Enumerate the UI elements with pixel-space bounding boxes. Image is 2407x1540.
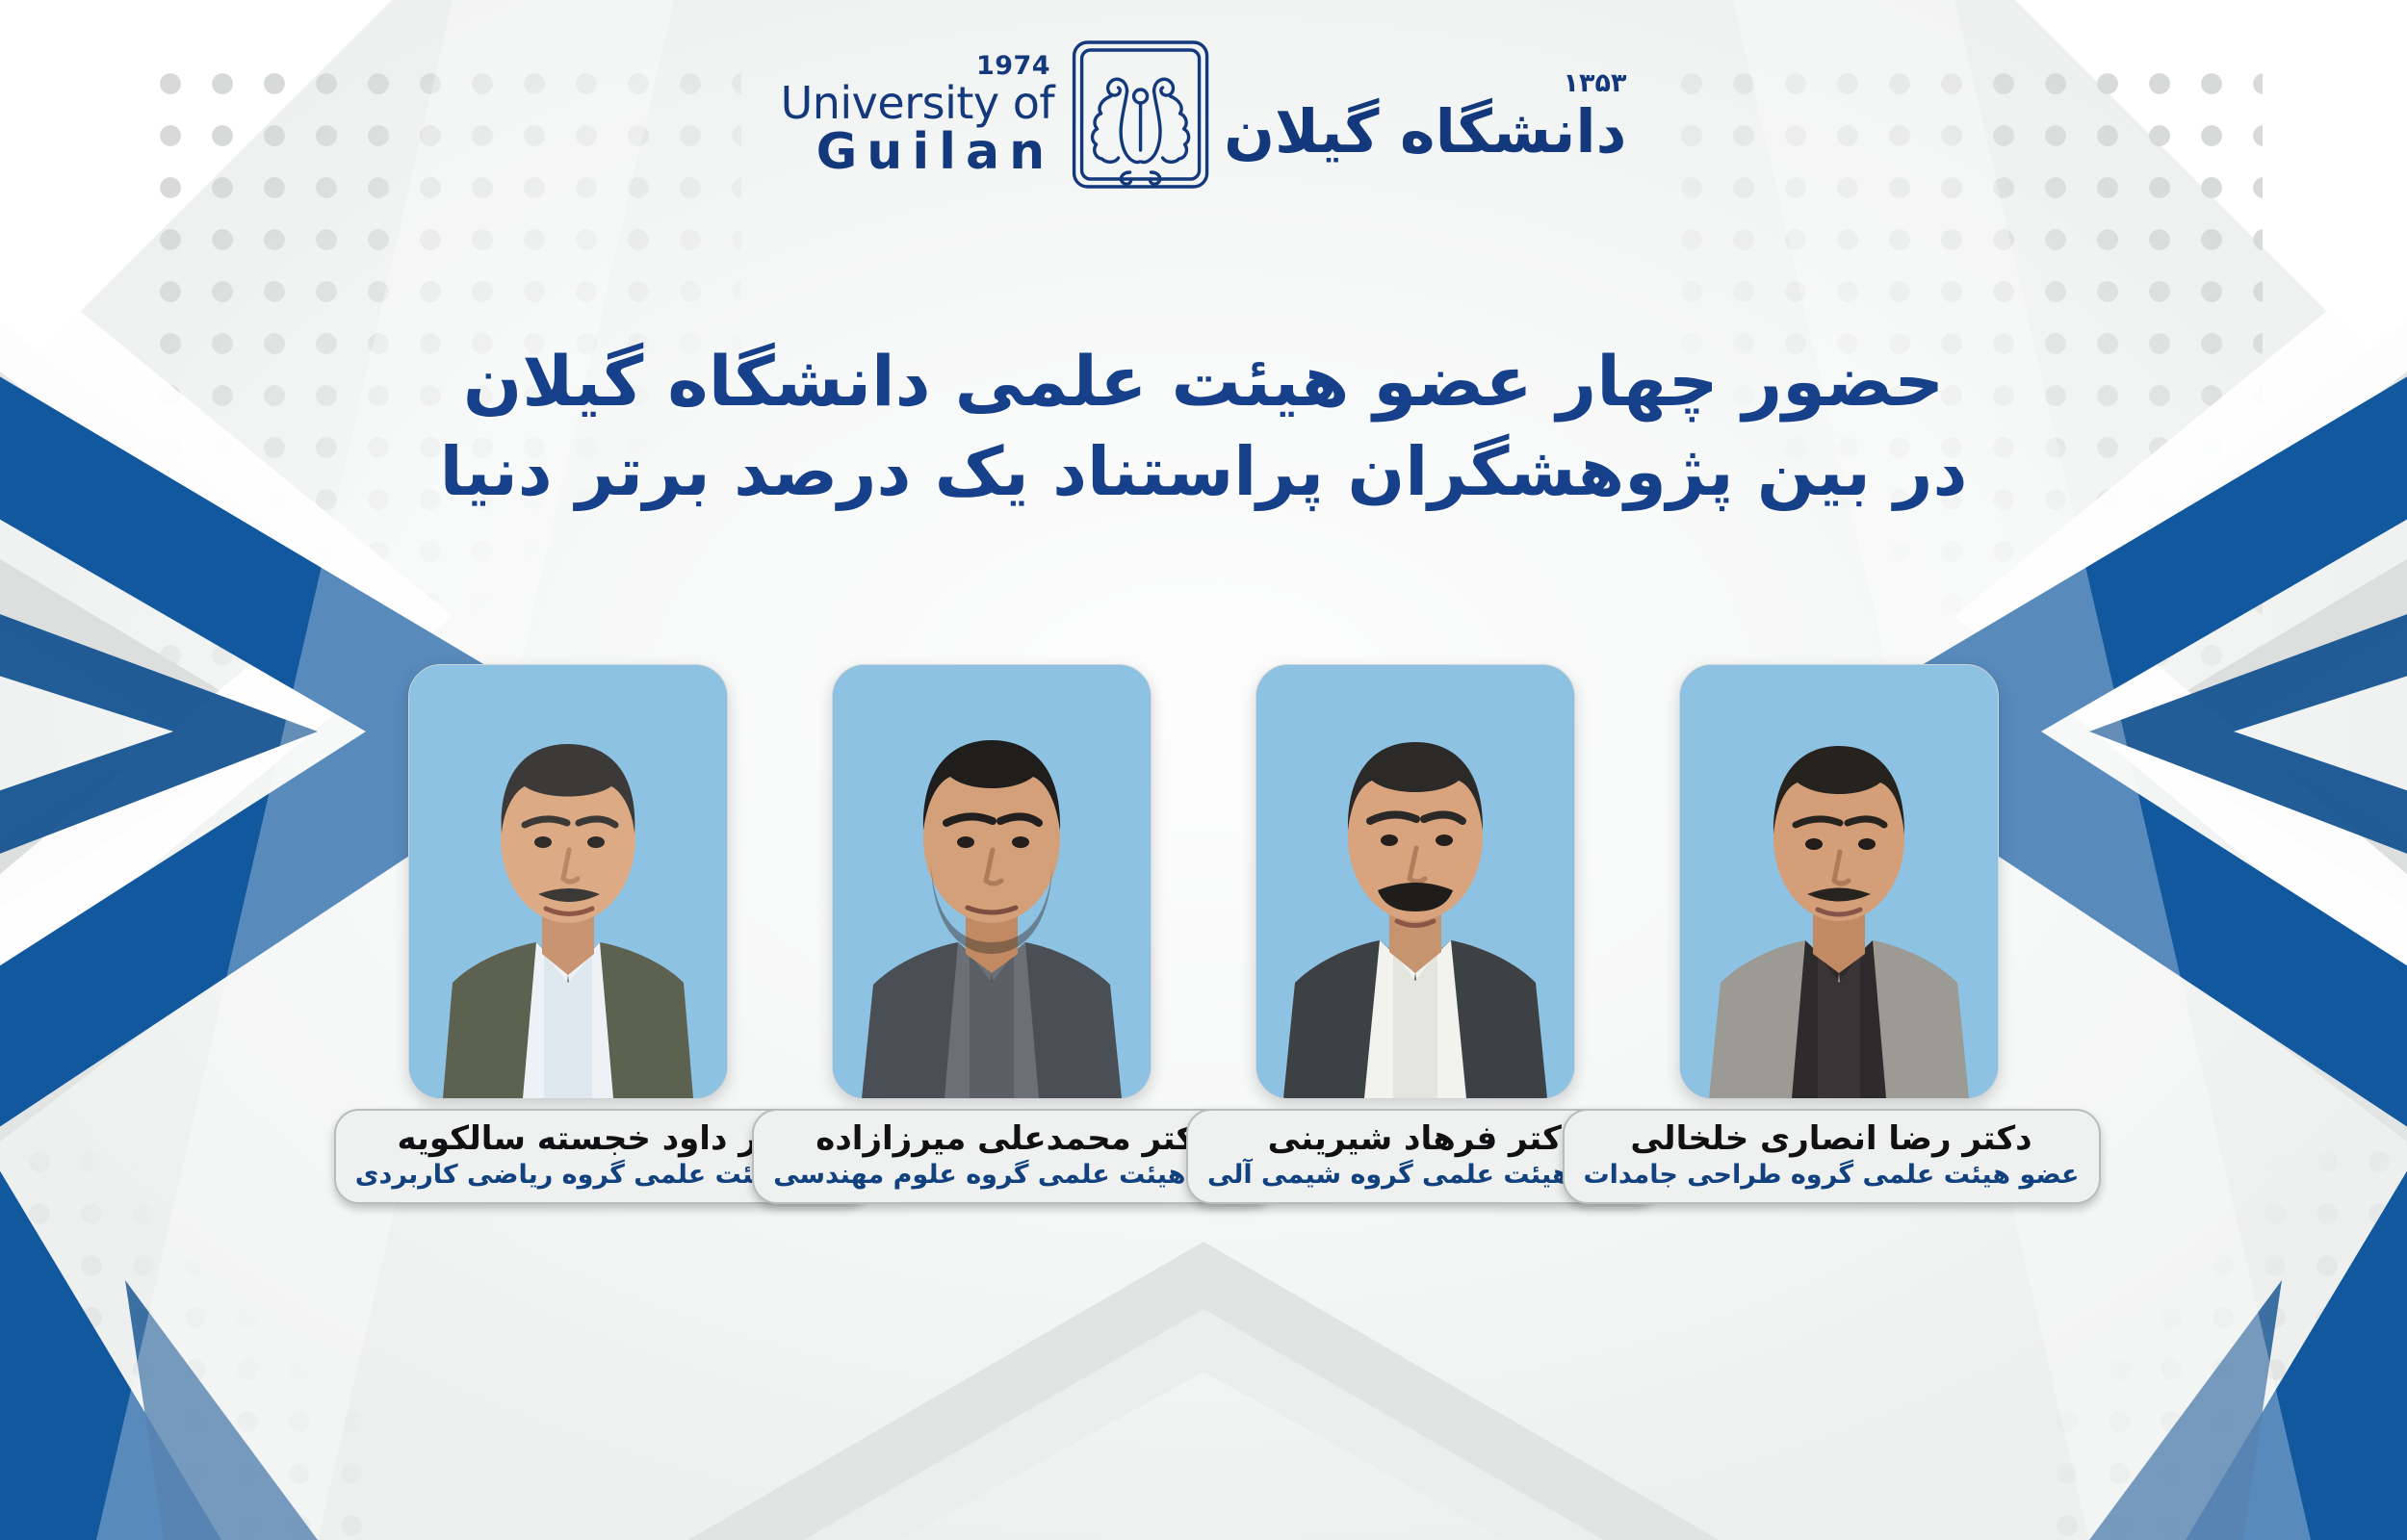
guilan-emblem-icon <box>1068 37 1212 192</box>
logo-persian-text: ۱۳۵۳ دانشگاه گیلان <box>1212 68 1626 162</box>
bottom-left-blue-wedge-2 <box>125 1280 318 1540</box>
portrait-shirini <box>1255 664 1575 1099</box>
person-label: دکتر رضا انصاری خلخالی عضو هیئت علمی گرو… <box>1563 1109 2101 1204</box>
logo-name-persian: دانشگاه گیلان <box>1224 102 1626 162</box>
bottom-left-blue-wedge <box>0 1155 221 1540</box>
logo-english-text: 1974 University of Guilan <box>781 53 1069 177</box>
university-logo: 1974 University of Guilan <box>781 37 1627 192</box>
portrait-ansari-khalkhali <box>1679 664 1999 1099</box>
portrait-khojasteh-salkuyeh <box>408 664 728 1099</box>
bottom-right-blue-wedge-2 <box>2089 1280 2282 1540</box>
headline-line-2: در بین پژوهشگران پراستناد یک درصد برتر د… <box>0 427 2407 518</box>
person-card: دکتر محمدعلی میرزازاده عضو هیئت علمی گرو… <box>833 664 1151 1204</box>
logo-guilan-word: Guilan <box>816 127 1054 177</box>
person-department: عضو هیئت علمی گروه علوم مهندسی <box>773 1160 1255 1191</box>
bottom-chevron-light <box>770 1309 1637 1540</box>
logo-year-persian: ۱۳۵۳ <box>1564 68 1627 98</box>
logo-year-english: 1974 <box>976 53 1050 79</box>
person-name: دکتر محمدعلی میرزازاده <box>773 1119 1255 1158</box>
poster-canvas: 1974 University of Guilan <box>0 0 2407 1540</box>
person-card: دکتر رضا انصاری خلخالی عضو هیئت علمی گرو… <box>1680 664 1998 1204</box>
portrait-mirzazadeh <box>832 664 1152 1099</box>
person-department: عضو هیئت علمی گروه طراحی جامدات <box>1584 1160 2080 1191</box>
bottom-chevron-gray <box>655 1242 1752 1540</box>
logo-university-word: University of <box>781 81 1055 125</box>
headline-block: حضور چهار عضو هیئت علمی دانشگاه گیلان در… <box>0 335 2407 518</box>
headline-line-1: حضور چهار عضو هیئت علمی دانشگاه گیلان <box>0 335 2407 427</box>
bottom-right-blue-wedge <box>2186 1155 2407 1540</box>
person-name: دکتر رضا انصاری خلخالی <box>1584 1119 2080 1158</box>
person-card: دکتر فرهاد شیرینی عضو هیئت علمی گروه شیم… <box>1256 664 1574 1204</box>
people-row: دکتر داود خجسته سالکویه عضو هیئت علمی گر… <box>0 664 2407 1204</box>
person-card: دکتر داود خجسته سالکویه عضو هیئت علمی گر… <box>409 664 727 1204</box>
